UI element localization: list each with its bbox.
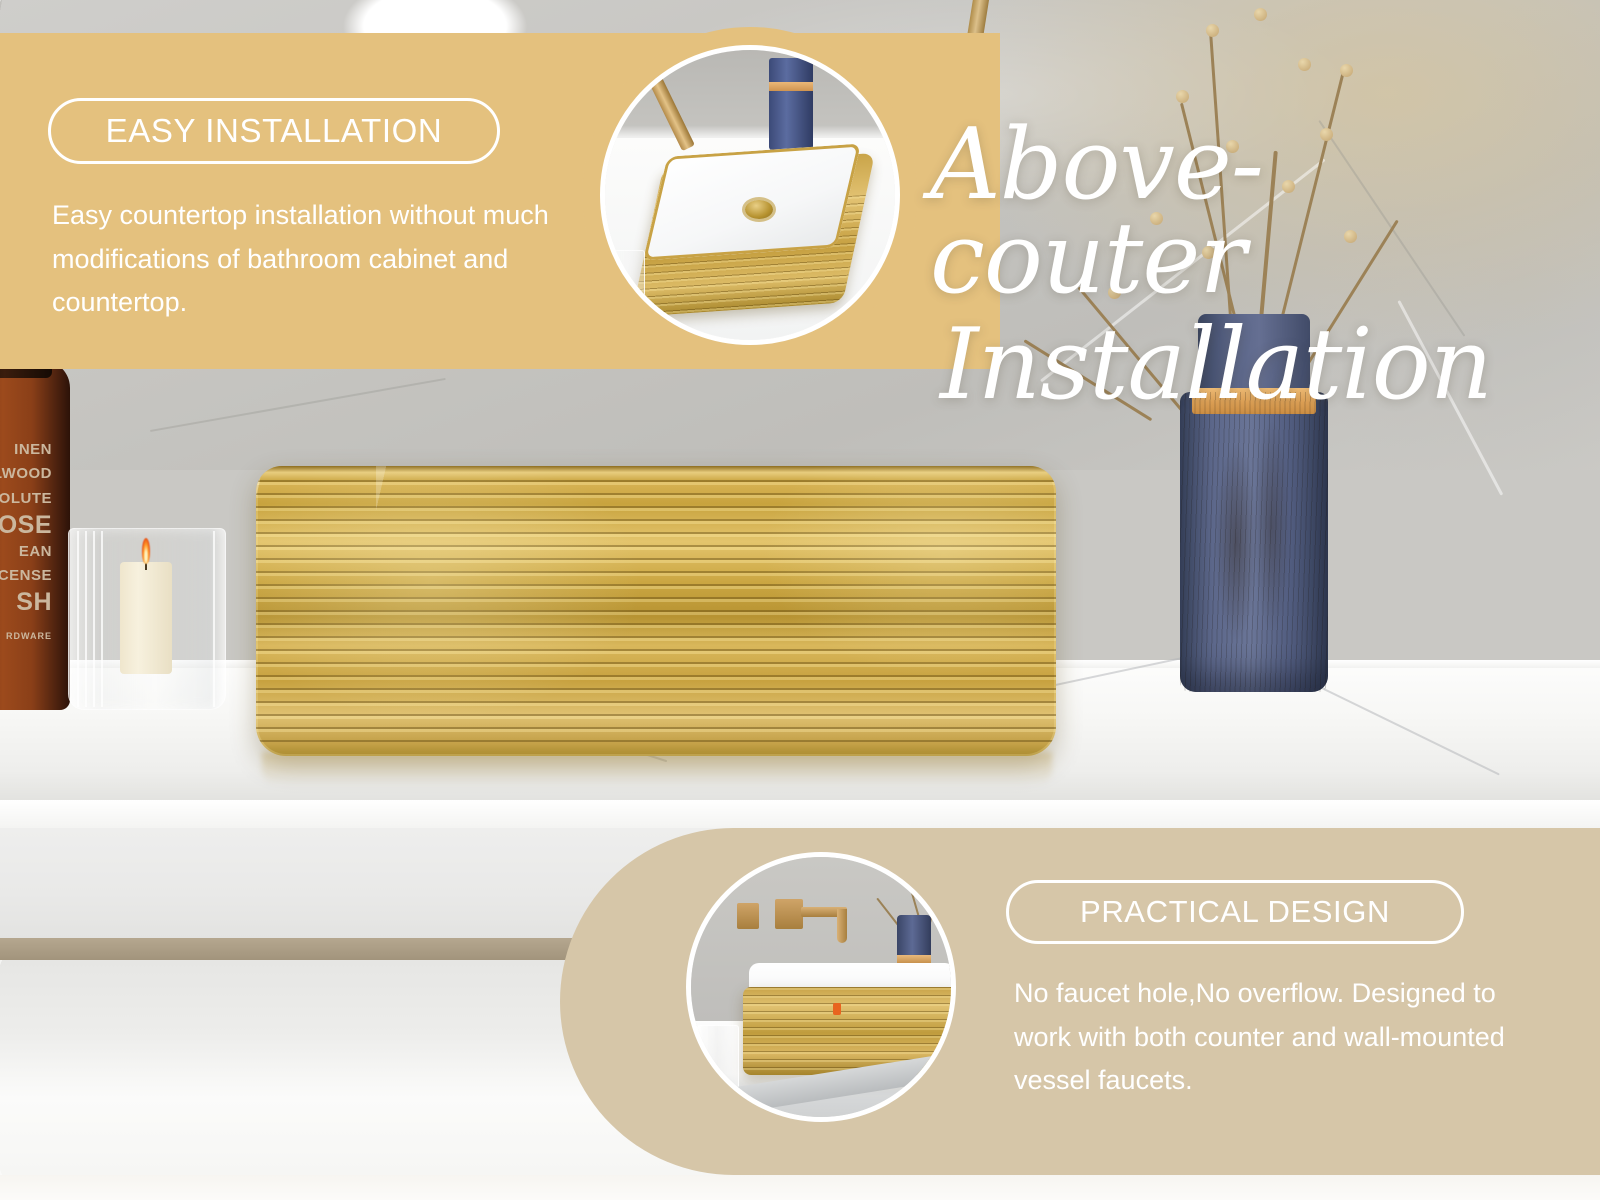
inset-sink-drain: [745, 200, 773, 219]
badge-label: EASY INSTALLATION: [106, 112, 443, 150]
branch-bud: [1206, 24, 1219, 37]
bottle-label-line: INEN: [14, 441, 52, 458]
inset-faucet-spout-drop: [837, 909, 847, 943]
branch-bud: [1254, 8, 1267, 21]
headline-line-1: Above-couter: [930, 118, 1570, 306]
blue-glass-vase: [1180, 392, 1328, 692]
bottle-label-line: EAN: [19, 543, 52, 560]
headline-line-2: Installation: [940, 318, 1570, 412]
vase-texture: [1180, 392, 1328, 692]
bottom-countertop-edge: [0, 800, 1600, 828]
feature-text-practical-design: No faucet hole,No overflow. Designed to …: [1014, 972, 1534, 1103]
bottle-label-footer: RDWARE: [0, 629, 52, 644]
sink-floor-reflection: [262, 752, 1052, 788]
sink-gloss: [256, 466, 1056, 756]
inset-glass-candle: [600, 250, 645, 318]
sink-wall-faucet-inset: [686, 852, 956, 1122]
inset-faucet-handle-right: [775, 899, 803, 929]
sink-top-view-inset: [600, 45, 900, 345]
inset-blue-glass: [769, 58, 813, 150]
branch-bud: [1340, 64, 1353, 77]
bottom-edge-strip: [0, 1175, 1600, 1200]
inset-faucet-handle-left: [737, 903, 759, 929]
candle-flame: [142, 538, 150, 564]
product-banner: INEN ALWOOD OLUTE OSE EAN NCENSE SH RDWA…: [0, 0, 1600, 1200]
inset-glass-holder: [697, 1025, 739, 1089]
bottle-label-line: NCENSE: [0, 567, 52, 584]
feature-text-easy-installation: Easy countertop installation without muc…: [52, 194, 572, 325]
bottle-label-line: SH: [0, 588, 52, 617]
pillar-candle: [120, 562, 172, 674]
inset-drain-plug: [833, 1003, 841, 1015]
bottle-label: INEN ALWOOD OLUTE OSE EAN NCENSE SH RDWA…: [0, 438, 52, 644]
bottle-label-line: OLUTE: [0, 490, 52, 507]
page-title: Above-couter Installation: [930, 118, 1570, 412]
branch-bud: [1298, 58, 1311, 71]
badge-label: PRACTICAL DESIGN: [1080, 894, 1390, 930]
branch-bud: [1176, 90, 1189, 103]
badge-practical-design: PRACTICAL DESIGN: [1006, 880, 1464, 944]
bottle-label-line: ALWOOD: [0, 465, 52, 482]
badge-easy-installation: EASY INSTALLATION: [48, 98, 500, 164]
main-product-sink: [256, 466, 1056, 756]
bottle-label-line: OSE: [0, 511, 52, 540]
